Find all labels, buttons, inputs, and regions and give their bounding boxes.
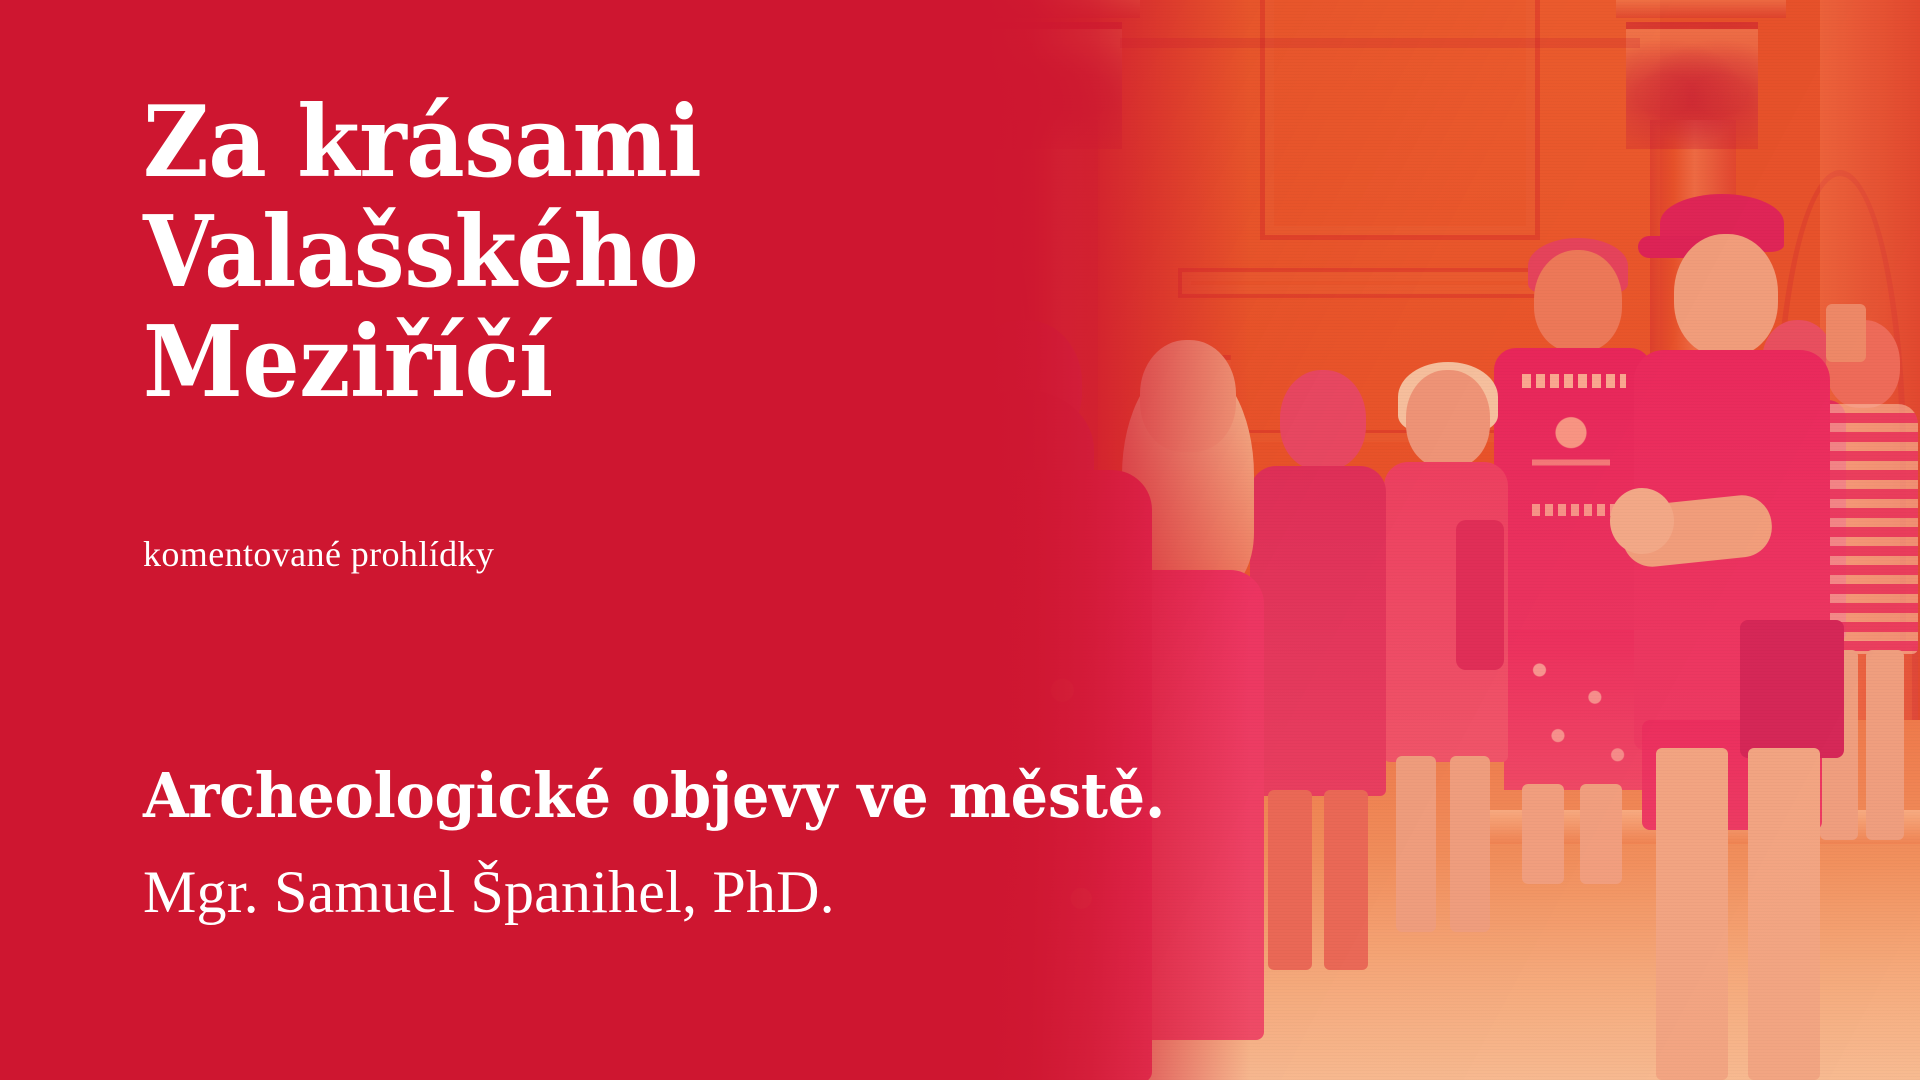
lecturer-name: Mgr. Samuel Španihel, PhD. bbox=[143, 862, 835, 922]
page-title: Za krásami Valašského Meziříčí bbox=[143, 88, 934, 417]
lecture-title: Archeologické objevy ve městě. bbox=[143, 765, 1165, 827]
poster-canvas: Za krásami Valašského Meziříčí komentova… bbox=[0, 0, 1920, 1080]
poster-content: Za krásami Valašského Meziříčí komentova… bbox=[0, 0, 1920, 1080]
subtitle-kicker: komentované prohlídky bbox=[143, 533, 494, 575]
